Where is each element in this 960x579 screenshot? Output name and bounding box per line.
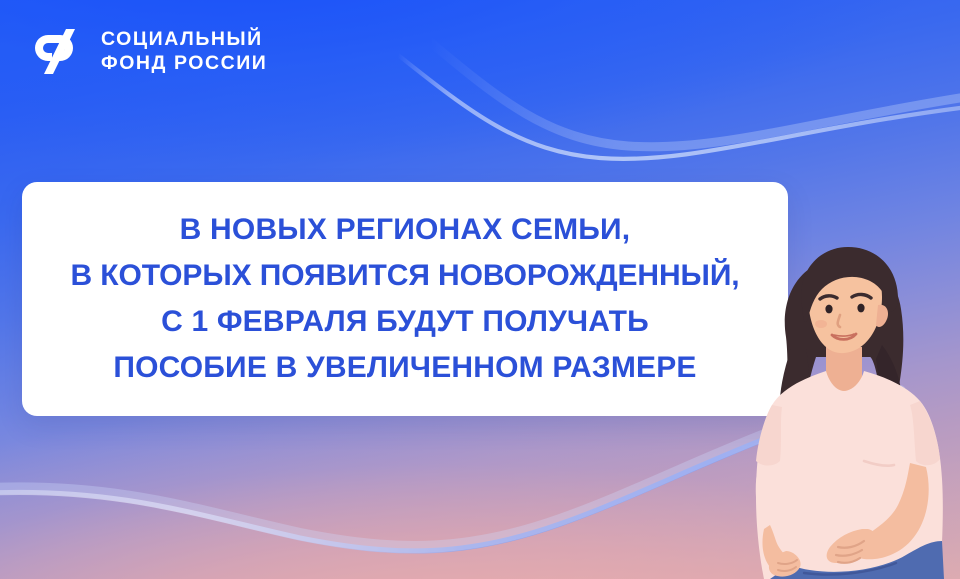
headline-line-2: В КОТОРЫХ ПОЯВИТСЯ НОВОРОЖДЕННЫЙ, bbox=[70, 256, 739, 296]
brand-logo: СОЦИАЛЬНЫЙ ФОНД РОССИИ bbox=[30, 26, 267, 76]
headline-line-3: С 1 ФЕВРАЛЯ БУДУТ ПОЛУЧАТЬ bbox=[161, 302, 649, 342]
headline-line-4: ПОСОБИЕ В УВЕЛИЧЕННОМ РАЗМЕРЕ bbox=[113, 348, 696, 388]
brand-name-line2: ФОНД РОССИИ bbox=[101, 53, 267, 73]
headline-card: В НОВЫХ РЕГИОНАХ СЕМЬИ, В КОТОРЫХ ПОЯВИТ… bbox=[22, 182, 788, 416]
headline-line-1: В НОВЫХ РЕГИОНАХ СЕМЬИ, bbox=[180, 210, 631, 250]
sfr-monogram-icon bbox=[30, 26, 86, 76]
brand-name-line1: СОЦИАЛЬНЫЙ bbox=[101, 29, 267, 49]
infographic-banner: СОЦИАЛЬНЫЙ ФОНД РОССИИ В НОВЫХ РЕГИОНАХ … bbox=[0, 0, 960, 579]
brand-name: СОЦИАЛЬНЫЙ ФОНД РОССИИ bbox=[101, 29, 267, 73]
